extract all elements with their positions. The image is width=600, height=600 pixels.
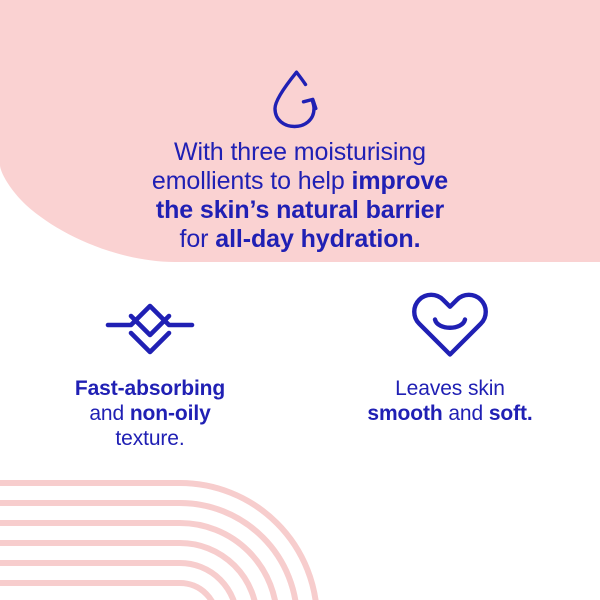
benefit-text: Leaves skin smooth and soft. [300,376,600,426]
water-drop-refresh-icon [265,68,335,130]
benefit-icon-wrap [0,290,300,360]
text-run-bold: the skin’s natural barrier [156,196,444,224]
hero-line: for all-day hydration. [0,225,600,254]
benefit-line: and non-oily [0,401,300,426]
arc-6 [0,583,217,600]
benefit-line: smooth and soft. [300,401,600,426]
hero-line: emollients to help improve [0,167,600,196]
hero-headline: With three moisturising emollients to he… [0,138,600,254]
text-run: emollients to help [152,167,352,195]
text-run: for [180,225,216,253]
benefit-line: Leaves skin [300,376,600,401]
hero-line: With three moisturising [0,138,600,167]
text-run: With three moisturising [174,138,426,166]
double-chevron-down-icon [104,294,196,356]
benefit-icon-wrap [300,290,600,360]
benefits-panel: With three moisturising emollients to he… [0,0,600,600]
concentric-rounded-arcs [0,483,317,600]
arc-4 [0,543,257,600]
text-run-bold: improve [352,167,449,195]
benefits-row: Fast-absorbing and non-oily texture. Lea… [0,290,600,451]
benefit-text: Fast-absorbing and non-oily texture. [0,376,300,451]
text-run: and [443,402,489,425]
text-run-bold: non-oily [130,402,211,425]
hero-line: the skin’s natural barrier [0,196,600,225]
hero-section: With three moisturising emollients to he… [0,0,600,262]
text-run-bold: soft. [489,402,533,425]
text-run-bold: all-day hydration. [215,225,420,253]
text-run-bold: smooth [367,402,442,425]
text-run: texture. [115,427,184,450]
benefit-line: Fast-absorbing [0,376,300,401]
smiling-heart-icon [410,290,490,360]
benefit-smooth-soft: Leaves skin smooth and soft. [300,290,600,451]
text-run: Leaves skin [395,377,505,400]
benefit-line: texture. [0,426,300,451]
text-run: and [89,402,129,425]
benefit-fast-absorbing: Fast-absorbing and non-oily texture. [0,290,300,451]
text-run-bold: Fast-absorbing [75,377,225,400]
